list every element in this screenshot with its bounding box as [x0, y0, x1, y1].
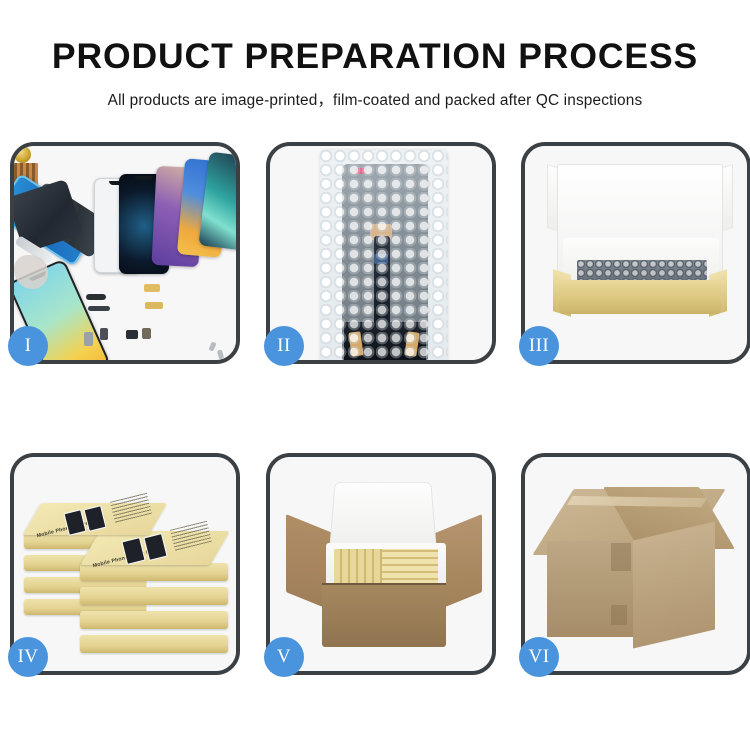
step-badge-1: I — [8, 326, 48, 366]
step-badge-2: II — [264, 326, 304, 366]
wireless-coil-part-icon — [14, 146, 31, 163]
battery-part-icon — [142, 328, 151, 339]
packed-boxes-icon — [382, 549, 438, 585]
inner-box-scene — [525, 146, 747, 360]
step-panel-3: III — [521, 142, 750, 364]
foam-lid-icon — [329, 482, 437, 551]
step-5-image — [270, 457, 492, 671]
flex-cable-part-icon — [144, 284, 160, 292]
screw-icon — [208, 341, 216, 351]
page-subtitle: All products are image-printed，film-coat… — [0, 77, 750, 110]
step-panel-4: Mobile Phone Spare Parts Mobile Phone Sp… — [10, 453, 240, 675]
driver-ic-icon — [374, 254, 388, 264]
stacked-box — [80, 635, 228, 653]
box-stack-scene: Mobile Phone Spare Parts Mobile Phone Sp… — [20, 479, 236, 669]
step-3-image — [525, 146, 747, 360]
camera-part-icon — [100, 328, 108, 340]
stacked-box — [80, 587, 228, 605]
page-header: PRODUCT PREPARATION PROCESS All products… — [0, 0, 750, 110]
yellow-box-body-icon — [559, 280, 721, 314]
step-badge-6: VI — [519, 637, 559, 677]
sim-tray-part-icon — [84, 332, 93, 346]
screw-icon — [217, 350, 224, 360]
phones-and-parts-scene — [14, 146, 236, 360]
step-badge-5: V — [264, 637, 304, 677]
step-badge-4: IV — [8, 637, 48, 677]
step-2-image — [270, 146, 492, 360]
bubble-wrapped-screen-scene — [270, 146, 492, 360]
step-panel-1: I — [10, 142, 240, 364]
qc-sticker-icon — [356, 168, 366, 174]
step-4-image: Mobile Phone Spare Parts Mobile Phone Sp… — [14, 457, 236, 671]
step-panel-2: II — [266, 142, 496, 364]
step-panel-5: V — [266, 453, 496, 675]
carton-loading-scene — [270, 457, 492, 671]
step-1-image — [14, 146, 236, 360]
sealed-carton-scene — [525, 457, 747, 671]
small-module-part-icon — [126, 330, 138, 339]
ribbon-cable-part-icon — [88, 306, 110, 311]
flex-cable-part-icon — [145, 302, 163, 309]
carton-seam-icon — [611, 605, 627, 625]
step-6-image — [525, 457, 747, 671]
process-steps-grid: I II — [0, 133, 750, 693]
speaker-part-icon — [86, 294, 106, 300]
notch-icon — [135, 176, 153, 180]
hand-icon — [14, 255, 48, 289]
step-badge-3: III — [519, 326, 559, 366]
step-panel-6: VI — [521, 453, 750, 675]
page-title: PRODUCT PREPARATION PROCESS — [0, 0, 750, 77]
carton-front-icon — [322, 585, 446, 647]
stacked-box — [80, 611, 228, 629]
carton-right-face-icon — [633, 522, 715, 649]
carton-seam-icon — [611, 543, 631, 571]
